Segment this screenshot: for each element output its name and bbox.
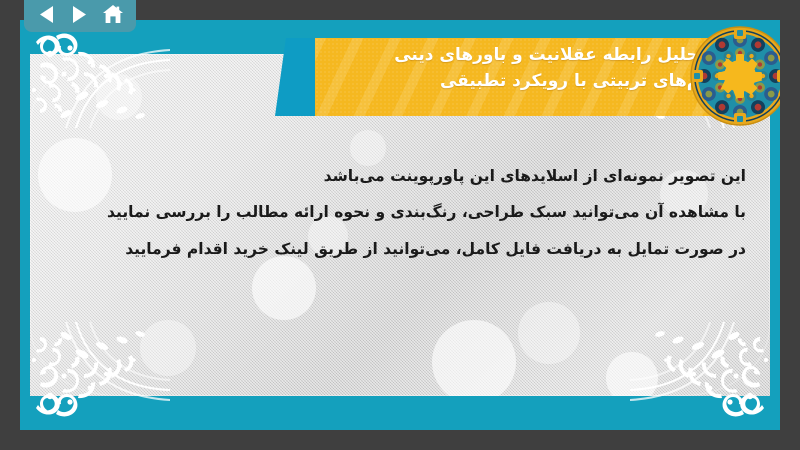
islamic-geometric-medallion-icon [688,24,780,128]
slide-body-line-1: این تصویر نمونه‌ای از اسلایدهای این پاور… [140,158,746,194]
slide-body-line-3: در صورت تمایل به دریافت فایل کامل، می‌تو… [140,231,746,267]
home-button[interactable] [98,1,128,27]
slide-body-line-2: با مشاهده آن می‌توانید سبک طراحی، رنگ‌بن… [140,194,746,230]
bokeh-circle [432,320,516,404]
house-icon [102,4,124,24]
next-slide-button[interactable] [65,1,95,27]
triangle-right-icon [71,5,88,24]
bokeh-circle [38,138,112,212]
banner-tail-accent [275,38,317,116]
slide-navigation-bar [24,0,136,32]
bokeh-circle [96,74,142,120]
triangle-left-icon [38,5,55,24]
bokeh-circle [518,302,580,364]
presentation-viewer: کامل تحلیل رابطه عقلانیت و باورهای دینی … [0,0,800,450]
slide-body-text: این تصویر نمونه‌ای از اسلایدهای این پاور… [140,158,746,267]
bokeh-circle [606,352,658,404]
previous-slide-button[interactable] [32,1,62,27]
slide-canvas: کامل تحلیل رابطه عقلانیت و باورهای دینی … [20,20,780,430]
bokeh-circle [140,320,196,376]
